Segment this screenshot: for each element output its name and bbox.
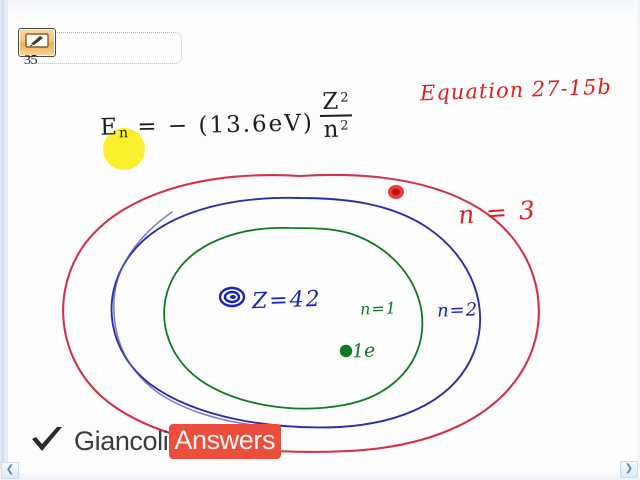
giancoli-answers-logo[interactable]: Giancoli Answers [30,424,281,458]
pen-tablet-icon [24,32,50,50]
whiteboard-video-frame: 35 En = − (13.6eV) Z2 n2 [0,0,640,480]
equation-minus: − [168,113,190,139]
equation-equals: = [137,114,159,140]
logo-accent-text: Answers [169,424,281,459]
bohr-model-drawing [0,0,640,480]
window-top-edge [0,0,640,18]
equation-lhs-subscript: n [119,125,128,141]
orbit-n1-path [164,228,422,409]
equation-lhs: E [100,114,119,140]
equation-fraction-numerator: Z2 [319,89,352,117]
window-right-edge [635,0,640,480]
page-number: 35 [24,53,37,69]
chevron-right-icon[interactable]: ❯ [620,461,638,478]
energy-equation: En = − (13.6eV) Z2 n2 [99,89,352,147]
electron-n3 [388,185,404,199]
equation-fraction-denominator: n2 [320,117,353,143]
electron-n1 [340,345,352,357]
chevron-left-icon[interactable]: ❮ [1,462,19,479]
electron-label: 1e [351,339,375,362]
orbit-n2-path-echo [114,212,262,426]
nucleus [220,288,244,306]
nucleus-label: Z=42 [252,287,323,314]
equation-fraction: Z2 n2 [319,89,352,142]
orbit-label-n2: n=2 [437,299,479,321]
equation-coefficient: (13.6eV) [198,110,314,138]
toolbar-widget: 35 [18,28,184,66]
orbit-label-n3: n = 3 [457,195,538,229]
window-bottom-edge [0,470,640,480]
equation-reference-label: Equation 27-15b [420,75,613,106]
orbit-label-n1: n=1 [360,298,398,318]
window-left-edge [0,0,8,480]
logo-primary-text: Giancoli [74,426,168,457]
checkmark-icon [30,426,64,456]
